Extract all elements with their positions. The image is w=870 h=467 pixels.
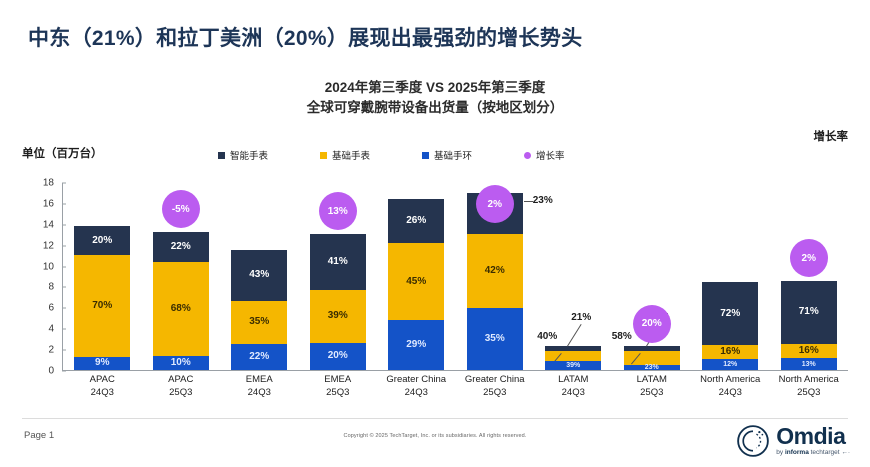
y-axis-tick-label: 10 xyxy=(24,261,54,272)
bar-segment[interactable]: 22% xyxy=(153,232,209,262)
bar-segment-label: 71% xyxy=(799,307,819,317)
bar-segment[interactable]: 41% xyxy=(310,234,366,290)
x-axis-label-quarter: 24Q3 xyxy=(220,387,299,400)
x-axis-label-quarter: 24Q3 xyxy=(534,387,613,400)
bar-slot: 41%39%20%13% xyxy=(299,183,378,370)
stacked-bar[interactable]: 71%16%13% xyxy=(781,281,837,370)
x-axis-label-region: LATAM xyxy=(613,374,692,387)
x-axis-label-quarter: 25Q3 xyxy=(299,387,378,400)
bar-segment-external-label: 21% xyxy=(571,312,591,323)
bar-segment[interactable]: 22% xyxy=(231,344,287,371)
bar-segment-label: 9% xyxy=(95,358,109,368)
y-axis-tick-label: 18 xyxy=(24,178,54,189)
bar-segment[interactable]: 71% xyxy=(781,281,837,344)
y-axis-tick-label: 4 xyxy=(24,324,54,335)
x-axis-label: Greater China25Q3 xyxy=(456,374,535,400)
bar-segment-label: 22% xyxy=(249,352,269,362)
y-axis-tick-mark xyxy=(62,245,66,246)
bar-segment[interactable]: 12% xyxy=(702,359,758,370)
x-axis-label: North America25Q3 xyxy=(770,374,849,400)
bar-slot: 23%42%35%2% xyxy=(456,183,535,370)
x-axis-label: APAC24Q3 xyxy=(63,374,142,400)
bar-segment-label: 10% xyxy=(171,358,191,368)
legend-label: 智能手表 xyxy=(230,148,268,162)
bar-segment-label: 68% xyxy=(171,304,191,314)
bar-segment[interactable]: 13% xyxy=(781,358,837,370)
y-axis-tick-label: 12 xyxy=(24,240,54,251)
bar-segment[interactable]: 10% xyxy=(153,356,209,370)
y-axis-tick-label: 14 xyxy=(24,219,54,230)
growth-rate-bubble[interactable]: -5% xyxy=(162,190,200,228)
x-axis-label-region: Greater China xyxy=(377,374,456,387)
bar-group-container: 20%70%9%22%68%10%-5%43%35%22%41%39%20%13… xyxy=(63,183,848,370)
bar-segment-label: 12% xyxy=(723,361,737,368)
omdia-circle-icon xyxy=(736,424,770,458)
bar-segment[interactable]: 35% xyxy=(467,308,523,370)
x-axis-label-quarter: 24Q3 xyxy=(63,387,142,400)
x-axis-label: EMEA24Q3 xyxy=(220,374,299,400)
y-axis-tick-mark xyxy=(62,350,66,351)
y-axis-tick-mark xyxy=(62,287,66,288)
bar-segment-label: 45% xyxy=(406,277,426,287)
chart-plot-area: 024681012141618 20%70%9%22%68%10%-5%43%3… xyxy=(22,183,848,371)
bar-segment[interactable]: 42% xyxy=(467,234,523,308)
growth-rate-bubble[interactable]: 2% xyxy=(790,239,828,277)
leader-line xyxy=(567,324,582,347)
legend-item-2[interactable]: 基础手表 xyxy=(320,148,370,162)
bar-segment-label: 16% xyxy=(720,347,740,357)
x-axis-label: APAC25Q3 xyxy=(142,374,221,400)
growth-rate-bubble[interactable]: 20% xyxy=(633,305,671,343)
y-axis-tick-label: 6 xyxy=(24,303,54,314)
bar-segment-label: 20% xyxy=(328,351,348,361)
y-axis-tick-mark xyxy=(62,266,66,267)
legend-label: 基础手环 xyxy=(434,148,472,162)
x-axis-label-quarter: 24Q3 xyxy=(377,387,456,400)
x-axis-line xyxy=(62,370,848,371)
chart-subtitle: 2024年第三季度 VS 2025年第三季度 全球可穿戴腕带设备出货量（按地区划… xyxy=(0,78,870,117)
legend-item-3[interactable]: 基础手环 xyxy=(422,148,472,162)
bar-segment-label: 70% xyxy=(92,301,112,311)
x-axis-label: LATAM25Q3 xyxy=(613,374,692,400)
chart-subtitle-line-1: 2024年第三季度 VS 2025年第三季度 xyxy=(0,78,870,98)
y-axis-tick-mark xyxy=(62,308,66,309)
y-axis-tick-mark xyxy=(62,203,66,204)
bar-segment[interactable]: 39% xyxy=(545,361,601,370)
y-axis-tick-label: 16 xyxy=(24,198,54,209)
x-axis-label-region: North America xyxy=(691,374,770,387)
bar-segment[interactable]: 45% xyxy=(388,243,444,320)
bar-segment[interactable]: 26% xyxy=(388,199,444,244)
bar-slot: 21%40%39% xyxy=(534,183,613,370)
omdia-wordmark: Omdia xyxy=(776,426,850,448)
x-axis-label-quarter: 25Q3 xyxy=(613,387,692,400)
bar-segment[interactable]: 23% xyxy=(624,365,680,370)
bar-segment-label: 39% xyxy=(328,311,348,321)
y-axis-tick-mark xyxy=(62,371,66,372)
bar-segment[interactable]: 68% xyxy=(153,262,209,356)
x-axis-label-region: Greater China xyxy=(456,374,535,387)
omdia-tagline-suffix: techtarget ←· xyxy=(809,449,850,456)
bar-segment-label: 20% xyxy=(92,236,112,246)
x-axis-label-quarter: 25Q3 xyxy=(142,387,221,400)
footer-divider xyxy=(22,418,848,419)
bar-segment[interactable]: 9% xyxy=(74,357,130,370)
bar-slot: 19%58%23%20% xyxy=(613,183,692,370)
legend-swatch-icon xyxy=(422,152,429,159)
y-axis-tick-mark xyxy=(62,329,66,330)
y-axis-tick-label: 2 xyxy=(24,345,54,356)
leader-line xyxy=(631,353,641,364)
legend-swatch-icon xyxy=(320,152,327,159)
bar-slot: 72%16%12% xyxy=(691,183,770,370)
bar-segment-external-label: 40% xyxy=(537,331,557,342)
x-axis-label: EMEA25Q3 xyxy=(299,374,378,400)
bar-slot: 71%16%13%2% xyxy=(770,183,849,370)
x-axis-label-region: LATAM xyxy=(534,374,613,387)
legend-label: 基础手表 xyxy=(332,148,370,162)
x-axis-label-quarter: 25Q3 xyxy=(456,387,535,400)
omdia-wordmark-block: Omdia by informa techtarget ←· xyxy=(776,426,850,456)
stacked-bar[interactable]: 21%40%39% xyxy=(545,346,601,370)
bar-segment[interactable]: 35% xyxy=(231,301,287,343)
bar-segment[interactable]: 16% xyxy=(702,345,758,359)
chart-legend: 智能手表基础手表基础手环增长率 xyxy=(218,148,778,162)
bar-segment-external-label: 58% xyxy=(612,331,632,342)
bar-segment-label: 22% xyxy=(171,242,191,252)
bar-segment-label: 26% xyxy=(406,216,426,226)
x-axis-label-region: APAC xyxy=(142,374,221,387)
x-axis-label: LATAM24Q3 xyxy=(534,374,613,400)
bar-segment[interactable]: 20% xyxy=(310,343,366,370)
bar-segment-label: 72% xyxy=(720,309,740,319)
omdia-tagline-prefix: by xyxy=(776,449,785,456)
page-title: 中东（21%）和拉丁美洲（20%）展现出最强劲的增长势头 xyxy=(28,22,582,52)
x-axis-label-region: EMEA xyxy=(220,374,299,387)
x-axis-label: North America24Q3 xyxy=(691,374,770,400)
bar-segment-label: 13% xyxy=(802,361,816,368)
bar-segment-label: 42% xyxy=(485,266,505,276)
bar-segment[interactable]: 16% xyxy=(781,344,837,358)
y-axis-tick-mark xyxy=(62,224,66,225)
x-axis-label-quarter: 25Q3 xyxy=(770,387,849,400)
y-axis-tick-label: 8 xyxy=(24,282,54,293)
bar-segment[interactable]: 70% xyxy=(74,255,130,357)
bar-segment[interactable]: 72% xyxy=(702,282,758,346)
bar-segment-label: 35% xyxy=(249,317,269,327)
bar-segment[interactable]: 43% xyxy=(231,250,287,302)
bar-segment[interactable]: 39% xyxy=(310,290,366,343)
legend-swatch-icon xyxy=(218,152,225,159)
stacked-bar[interactable]: 72%16%12% xyxy=(702,282,758,370)
stacked-bar[interactable]: 41%39%20% xyxy=(310,234,366,370)
x-axis-label-quarter: 24Q3 xyxy=(691,387,770,400)
x-axis-label-region: APAC xyxy=(63,374,142,387)
x-axis-label-region: EMEA xyxy=(299,374,378,387)
bar-slot: 22%68%10%-5% xyxy=(142,183,221,370)
growth-rate-header: 增长率 xyxy=(814,128,849,144)
leader-line xyxy=(524,201,533,202)
bar-segment-label: 29% xyxy=(406,340,426,350)
growth-rate-bubble[interactable]: 13% xyxy=(319,192,357,230)
stacked-bar[interactable]: 20%70%9% xyxy=(74,225,130,370)
y-axis: 024681012141618 xyxy=(22,183,62,371)
x-axis-label-region: North America xyxy=(770,374,849,387)
bar-segment[interactable]: 20% xyxy=(74,226,130,255)
bar-segment-label: 41% xyxy=(328,257,348,267)
bar-segment-label: 23% xyxy=(645,364,659,371)
y-axis-unit-label: 单位（百万台） xyxy=(22,145,103,161)
bar-slot: 26%45%29% xyxy=(377,183,456,370)
growth-rate-bubble[interactable]: 2% xyxy=(476,185,514,223)
bar-segment[interactable]: 58% xyxy=(624,351,680,365)
omdia-tagline-brand: informa xyxy=(785,449,809,456)
bar-segment-label: 39% xyxy=(566,362,580,369)
bar-slot: 43%35%22% xyxy=(220,183,299,370)
bar-segment-label: 43% xyxy=(249,270,269,280)
legend-item-1[interactable]: 智能手表 xyxy=(218,148,268,162)
stacked-bar[interactable]: 22%68%10% xyxy=(153,232,209,370)
y-axis-tick-mark xyxy=(62,183,66,184)
bar-segment[interactable]: 29% xyxy=(388,320,444,370)
stacked-bar[interactable]: 43%35%22% xyxy=(231,250,287,371)
legend-item-4[interactable]: 增长率 xyxy=(524,148,565,162)
bar-segment-label: 35% xyxy=(485,334,505,344)
omdia-tagline: by informa techtarget ←· xyxy=(776,450,850,457)
legend-swatch-icon xyxy=(524,152,531,159)
bar-segment-label: 16% xyxy=(799,346,819,356)
stacked-bar[interactable]: 19%58%23% xyxy=(624,346,680,370)
y-axis-tick-label: 0 xyxy=(24,366,54,377)
x-axis-label: Greater China24Q3 xyxy=(377,374,456,400)
x-axis-labels: APAC24Q3APAC25Q3EMEA24Q3EMEA25Q3Greater … xyxy=(63,374,848,400)
omdia-logo: Omdia by informa techtarget ←· xyxy=(736,424,850,458)
chart-subtitle-line-2: 全球可穿戴腕带设备出货量（按地区划分） xyxy=(0,98,870,118)
legend-label: 增长率 xyxy=(536,148,565,162)
bar-segment[interactable]: 40% xyxy=(545,351,601,361)
bar-slot: 20%70%9% xyxy=(63,183,142,370)
stacked-bar[interactable]: 26%45%29% xyxy=(388,199,444,370)
